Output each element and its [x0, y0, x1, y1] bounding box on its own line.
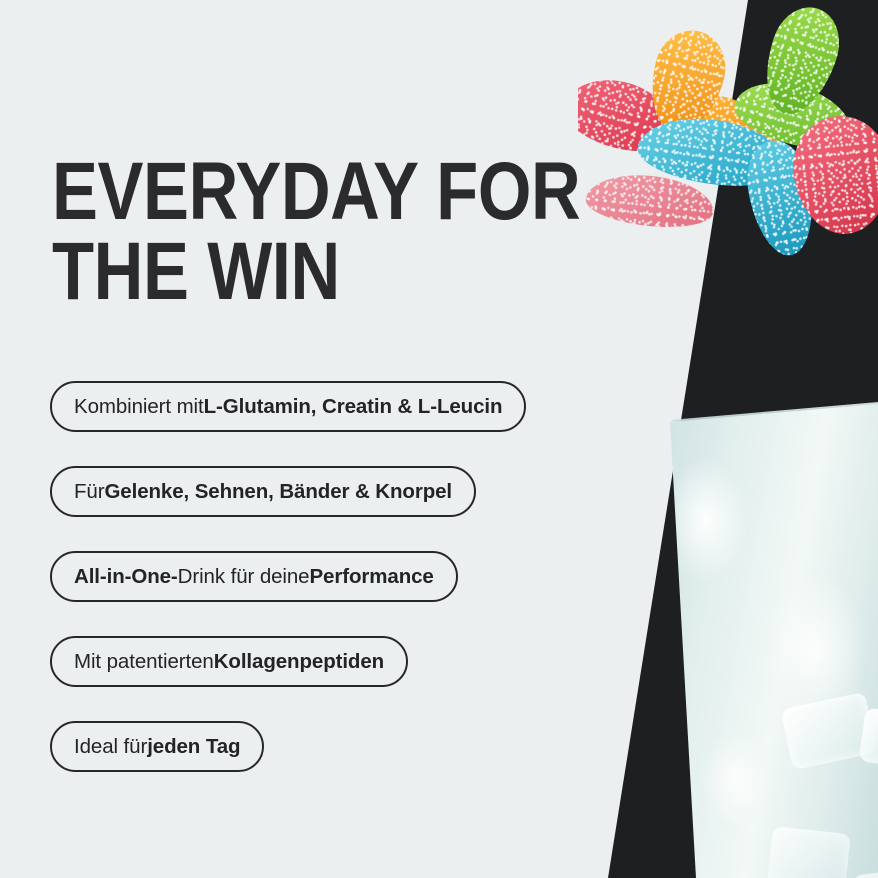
pill-text-bold: Kollagenpeptiden: [214, 650, 384, 674]
product-photo-panel: [578, 0, 878, 878]
feature-pill-list: Kombiniert mit L-Glutamin, Creatin & L-L…: [50, 381, 526, 772]
headline-line-1: EVERYDAY FOR: [52, 152, 556, 232]
pill-text-regular: Kombiniert mit: [74, 395, 204, 419]
ice-cube: [852, 864, 878, 878]
pill-collagen: Mit patentierten Kollagenpeptiden: [50, 636, 408, 687]
headline-line-2: THE WIN: [52, 232, 556, 312]
page-title: EVERYDAY FOR THE WIN: [52, 152, 556, 313]
pill-text-bold: Performance: [309, 565, 433, 589]
promo-poster: EVERYDAY FOR THE WIN Kombiniert mit L-Gl…: [0, 0, 878, 878]
pill-text-bold: All-in-One-: [74, 565, 178, 589]
pill-joints: Für Gelenke, Sehnen, Bänder & Knorpel: [50, 466, 476, 517]
pill-text-regular: Ideal für: [74, 735, 147, 759]
pill-text-bold: Gelenke, Sehnen, Bänder & Knorpel: [104, 480, 452, 504]
pill-all-in-one: All-in-One-Drink für deine Performance: [50, 551, 458, 602]
pill-text-regular: Für: [74, 480, 104, 504]
pill-everyday: Ideal für jeden Tag: [50, 721, 264, 772]
pill-ingredients: Kombiniert mit L-Glutamin, Creatin & L-L…: [50, 381, 526, 432]
pill-text-bold: jeden Tag: [147, 735, 240, 759]
pill-text-regular: Drink für deine: [178, 565, 310, 589]
ice-cube: [767, 826, 851, 878]
pill-text-bold: L-Glutamin, Creatin & L-Leucin: [204, 395, 503, 419]
pill-text-regular: Mit patentierten: [74, 650, 214, 674]
drink-glass: [666, 400, 878, 878]
